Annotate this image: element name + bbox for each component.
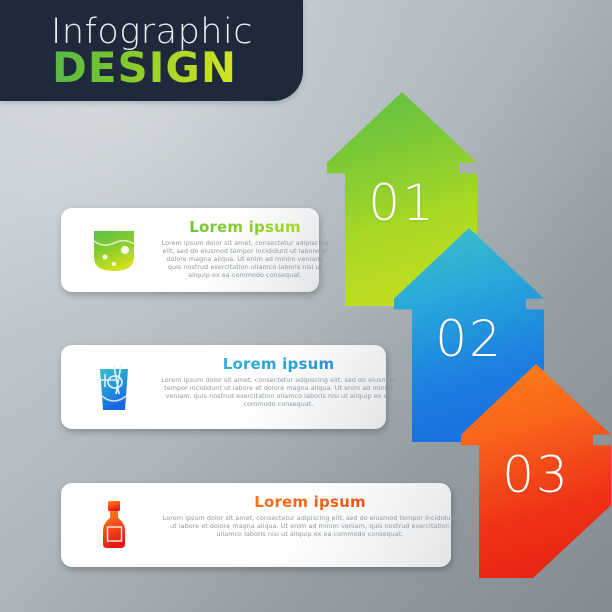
info-card-3-body: Lorem ipsum Lorem ipsum dolor sit amet, … [161, 489, 459, 538]
step-number-03: 03 [461, 446, 611, 504]
info-card-2[interactable]: Lorem ipsum Lorem ipsum dolor sit amet, … [61, 345, 386, 429]
flask-icon [83, 219, 145, 281]
card-text-3: Lorem ipsum dolor sit amet, consectetur … [161, 514, 459, 538]
card-text-1: Lorem ipsum dolor sit amet, consectetur … [161, 239, 329, 279]
card-title-1: Lorem ipsum [161, 218, 329, 236]
card-text-2: Lorem ipsum dolor sit amet, consectetur … [161, 376, 396, 408]
header-banner: Infographic DESIGN [0, 0, 303, 101]
info-card-2-body: Lorem ipsum Lorem ipsum dolor sit amet, … [161, 351, 396, 408]
cocktail-glass-icon [83, 356, 145, 418]
step-number-02: 02 [394, 310, 544, 368]
info-card-3[interactable]: Lorem ipsum Lorem ipsum dolor sit amet, … [61, 483, 451, 567]
bottle-icon [83, 494, 145, 556]
info-card-1[interactable]: Lorem ipsum Lorem ipsum dolor sit amet, … [61, 208, 319, 292]
step-number-01: 01 [327, 174, 477, 232]
infographic-canvas: Infographic DESIGN 01 02 03 [0, 0, 612, 612]
card-title-2: Lorem ipsum [161, 355, 396, 373]
info-card-1-body: Lorem ipsum Lorem ipsum dolor sit amet, … [161, 214, 329, 279]
header-title-design: DESIGN [52, 43, 237, 92]
card-title-3: Lorem ipsum [161, 493, 459, 511]
